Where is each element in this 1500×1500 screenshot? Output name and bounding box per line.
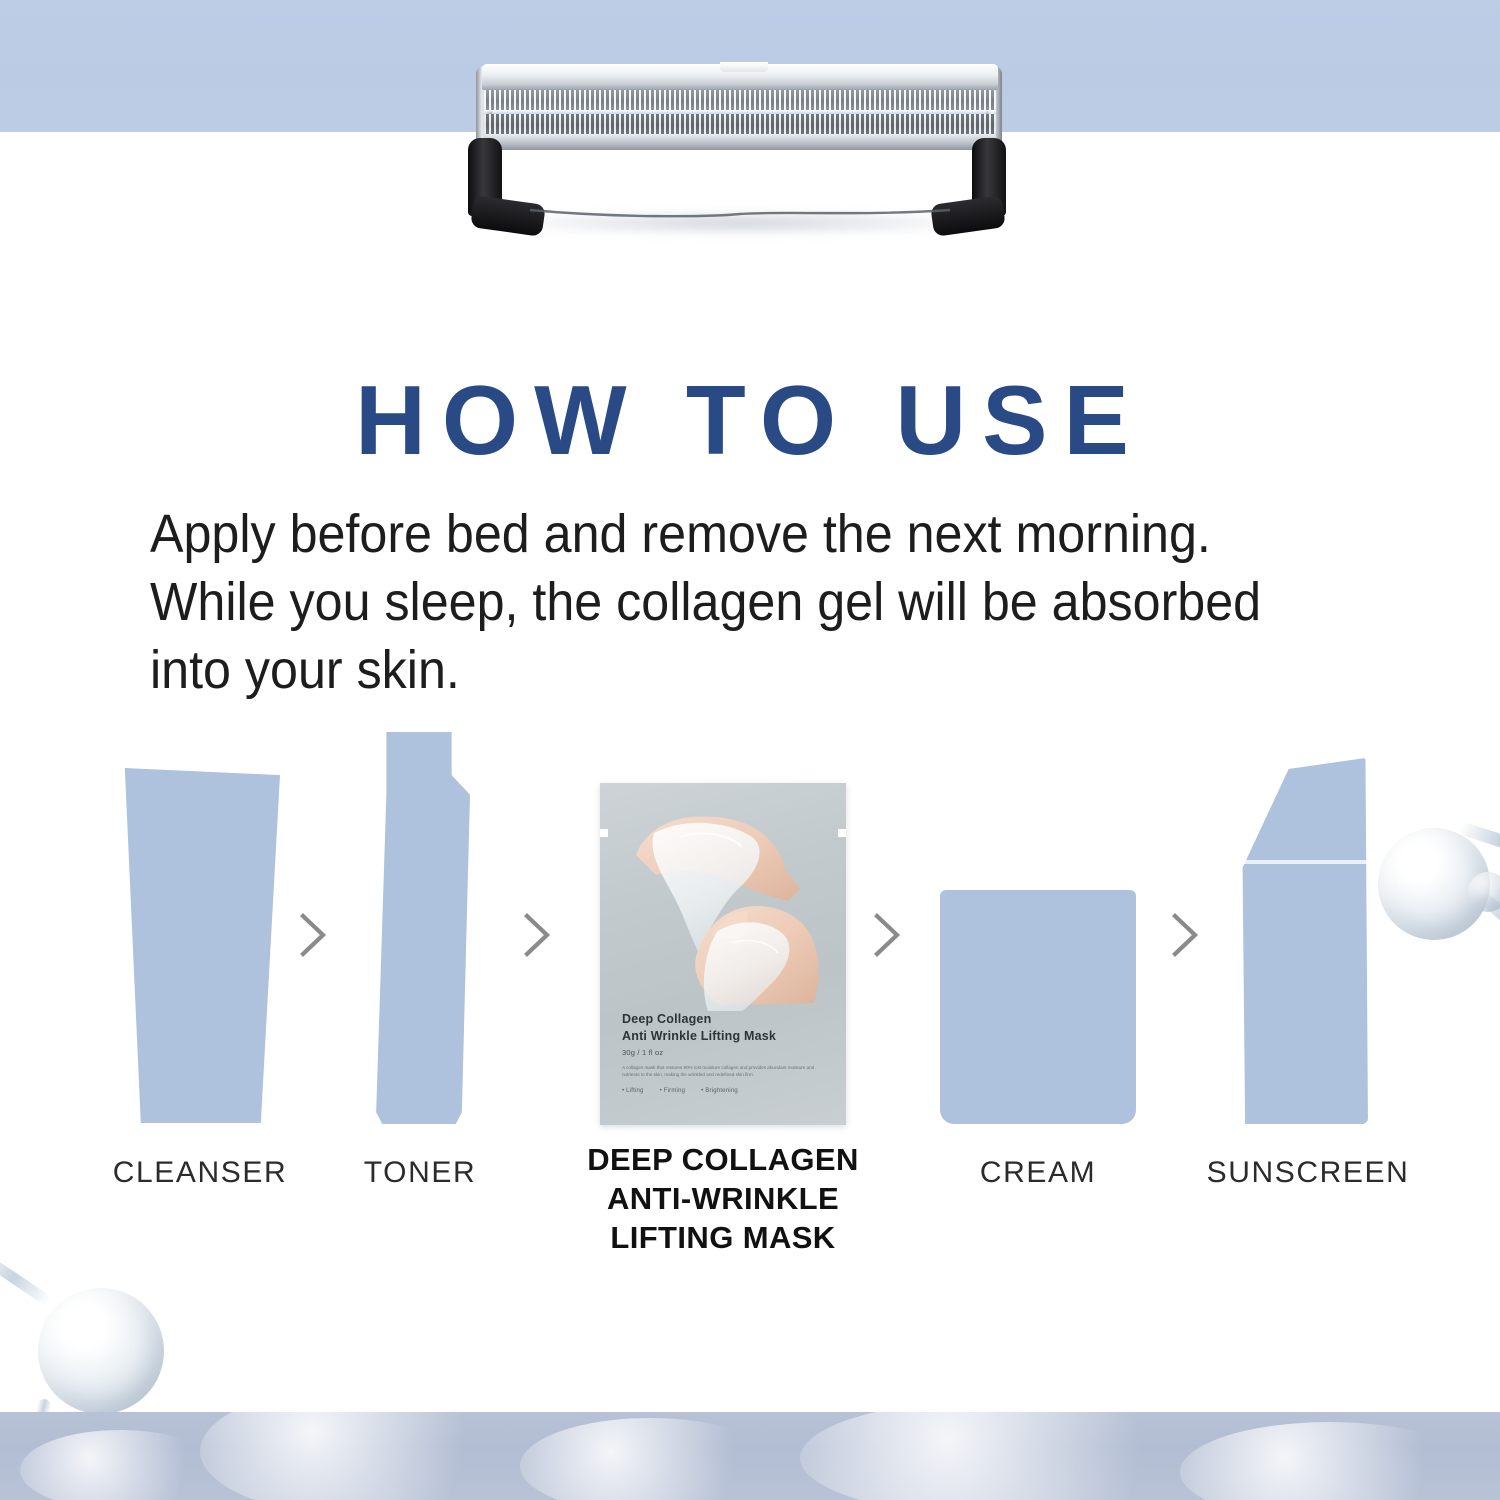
- step-icon-mask-sachet: Deep Collagen Anti Wrinkle Lifting Mask …: [600, 783, 846, 1125]
- package-benefit-firming: • Firming: [660, 1088, 686, 1094]
- package-benefit-lifting: • Lifting: [622, 1088, 644, 1094]
- step-label-cleanser: CLEANSER: [60, 1156, 340, 1190]
- step-label-cream: CREAM: [918, 1156, 1158, 1190]
- package-benefits: • Lifting • Firming • Brightening: [622, 1088, 830, 1094]
- chevron-right-icon: [872, 912, 902, 958]
- step-icon-cream: [940, 892, 1136, 1124]
- roller-handle-right: [972, 138, 1006, 236]
- package-brand-line-2: Anti Wrinkle Lifting Mask: [622, 1028, 822, 1045]
- roller-wire: [528, 208, 952, 218]
- roller-bottom-bar: [484, 134, 996, 150]
- package-brand-line-1: Deep Collagen: [622, 1011, 822, 1028]
- collagen-molecule-right: [1372, 808, 1500, 1008]
- instruction-line-2: While you sleep, the collagen gel will b…: [150, 568, 1303, 636]
- roller-center-notch: [720, 62, 768, 72]
- step-label-mask-line-3: LIFTING MASK: [540, 1218, 906, 1257]
- roller-knurl-lower: [484, 114, 996, 134]
- step-label-mask: DEEP COLLAGEN ANTI-WRINKLE LIFTING MASK: [540, 1140, 906, 1257]
- roller-handle-left: [468, 138, 502, 236]
- sunscreen-cap-seam: [1240, 860, 1368, 864]
- instruction-text: Apply before bed and remove the next mor…: [150, 500, 1303, 704]
- step-label-mask-line-2: ANTI-WRINKLE: [540, 1179, 906, 1218]
- step-label-mask-line-1: DEEP COLLAGEN: [540, 1140, 906, 1179]
- step-icon-toner: [368, 732, 470, 1124]
- step-label-sunscreen: SUNSCREEN: [1158, 1156, 1458, 1190]
- package-benefit-brightening: • Brightening: [701, 1088, 738, 1094]
- chevron-right-icon: [298, 912, 328, 958]
- infographic-canvas: HOW TO USE Apply before bed and remove t…: [0, 0, 1500, 1500]
- page-title: HOW TO USE: [0, 368, 1500, 472]
- chevron-right-icon: [1170, 912, 1200, 958]
- step-icon-sunscreen: [1240, 758, 1368, 1124]
- package-description: A collagen mask that restores 90% lost m…: [622, 1064, 824, 1078]
- sachet-hands-photo: [600, 793, 846, 1011]
- instruction-line-1: Apply before bed and remove the next mor…: [150, 500, 1303, 568]
- facial-roller-massager-image: [462, 60, 1018, 235]
- package-size: 30g / 1 fl oz: [622, 1048, 663, 1057]
- instruction-line-3: into your skin.: [150, 636, 1303, 704]
- roller-knurl-upper: [484, 90, 996, 110]
- bottom-color-band: [0, 1412, 1500, 1500]
- step-icon-cleanser: [120, 768, 280, 1123]
- package-brand-name: Deep Collagen Anti Wrinkle Lifting Mask: [622, 1011, 822, 1045]
- chevron-right-icon: [522, 912, 552, 958]
- step-label-toner: TONER: [300, 1156, 540, 1190]
